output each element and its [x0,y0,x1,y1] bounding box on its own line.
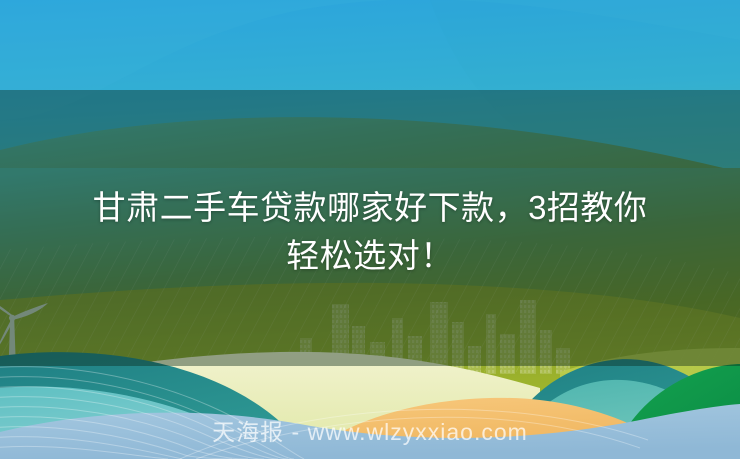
poster-canvas: 甘肃二手车贷款哪家好下款，3招教你 轻松选对！ 天海报 - www.wlzyxx… [0,0,740,459]
scene-artwork [0,0,740,459]
